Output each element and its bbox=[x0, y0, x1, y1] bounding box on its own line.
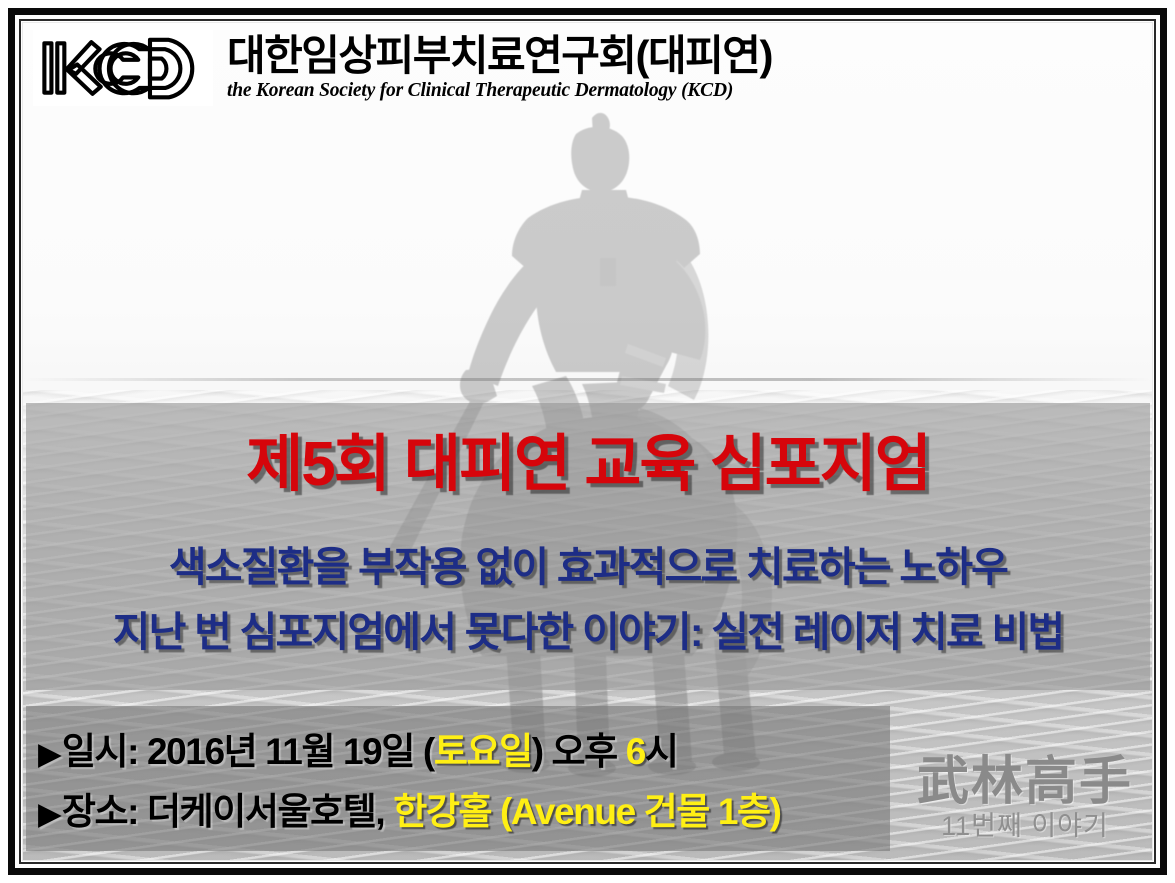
watermark-hanja: 武林高手 bbox=[917, 757, 1133, 809]
poster-header: 대한임상피부치료연구회(대피연) the Korean Society for … bbox=[23, 23, 1152, 113]
symposium-poster: 대한임상피부치료연구회(대피연) the Korean Society for … bbox=[0, 0, 1175, 883]
subtitle-line-1: 색소질환을 부작용 없이 효과적으로 치료하는 노하우 bbox=[26, 545, 1150, 590]
date-prefix: 2016년 11월 19일 ( bbox=[147, 731, 434, 772]
watermark-korean: 11번째 이야기 bbox=[917, 813, 1133, 840]
venue-prefix: 더케이서울호텔, bbox=[147, 791, 393, 832]
org-name-korean: 대한임상피부치료연구회(대피연) bbox=[227, 34, 772, 78]
org-name-english: the Korean Society for Clinical Therapeu… bbox=[227, 80, 772, 102]
venue-label: 장소: bbox=[62, 791, 147, 832]
series-watermark: 武林高手 11번째 이야기 bbox=[917, 757, 1133, 840]
date-middle: ) 오후 bbox=[532, 731, 626, 772]
date-suffix: 시 bbox=[645, 731, 678, 772]
page-title: 제5회 대피연 교육 심포지엄 bbox=[26, 432, 1150, 499]
bullet-marker-icon: ▶ bbox=[38, 736, 62, 771]
bullet-marker-icon-2: ▶ bbox=[38, 796, 62, 831]
event-venue-line: ▶장소: 더케이서울호텔, 한강홀 (Avenue 건물 1층) bbox=[38, 792, 781, 833]
subtitle-line-2: 지난 번 심포지엄에서 못다한 이야기: 실전 레이저 치료 비법 bbox=[26, 610, 1150, 655]
event-date-line: ▶일시: 2016년 11월 19일 (토요일) 오후 6시 bbox=[38, 732, 678, 773]
venue-hall-highlight: 한강홀 (Avenue 건물 1층) bbox=[393, 791, 780, 832]
kcd-logo bbox=[33, 30, 213, 106]
date-hour-highlight: 6 bbox=[626, 731, 645, 772]
organization-names: 대한임상피부치료연구회(대피연) the Korean Society for … bbox=[227, 34, 772, 103]
date-label: 일시: bbox=[62, 731, 147, 772]
date-day-highlight: 토요일 bbox=[434, 731, 532, 772]
